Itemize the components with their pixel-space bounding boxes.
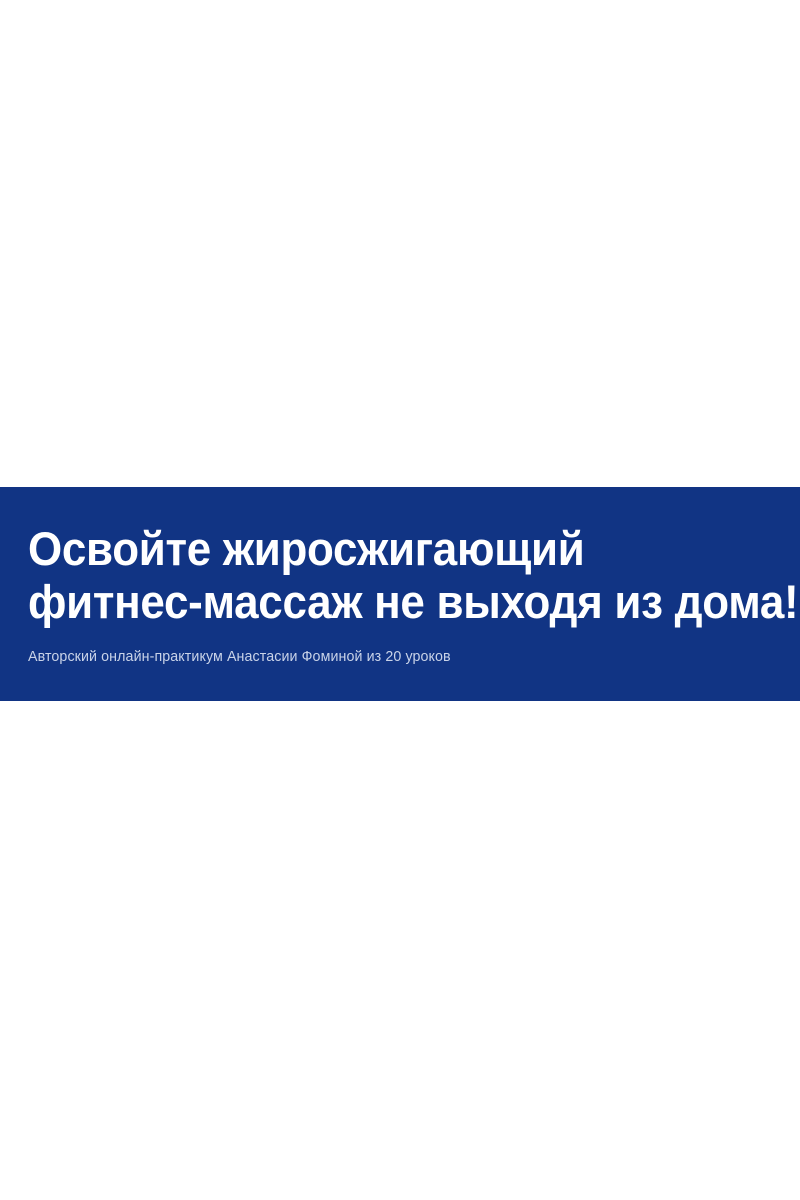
banner-heading-line-1: Освойте жиросжигающий bbox=[28, 522, 724, 575]
page-root: Освойте жиросжигающий фитнес-массаж не в… bbox=[0, 0, 800, 1200]
blank-area-below-banner bbox=[0, 701, 800, 1200]
blank-area-above-banner bbox=[0, 0, 800, 487]
banner-heading-line-2: фитнес-массаж не выходя из дома! bbox=[28, 575, 724, 628]
promo-banner: Освойте жиросжигающий фитнес-массаж не в… bbox=[0, 487, 800, 701]
banner-heading: Освойте жиросжигающий фитнес-массаж не в… bbox=[28, 522, 724, 628]
banner-subtitle: Авторский онлайн-практикум Анастасии Фом… bbox=[28, 648, 735, 666]
